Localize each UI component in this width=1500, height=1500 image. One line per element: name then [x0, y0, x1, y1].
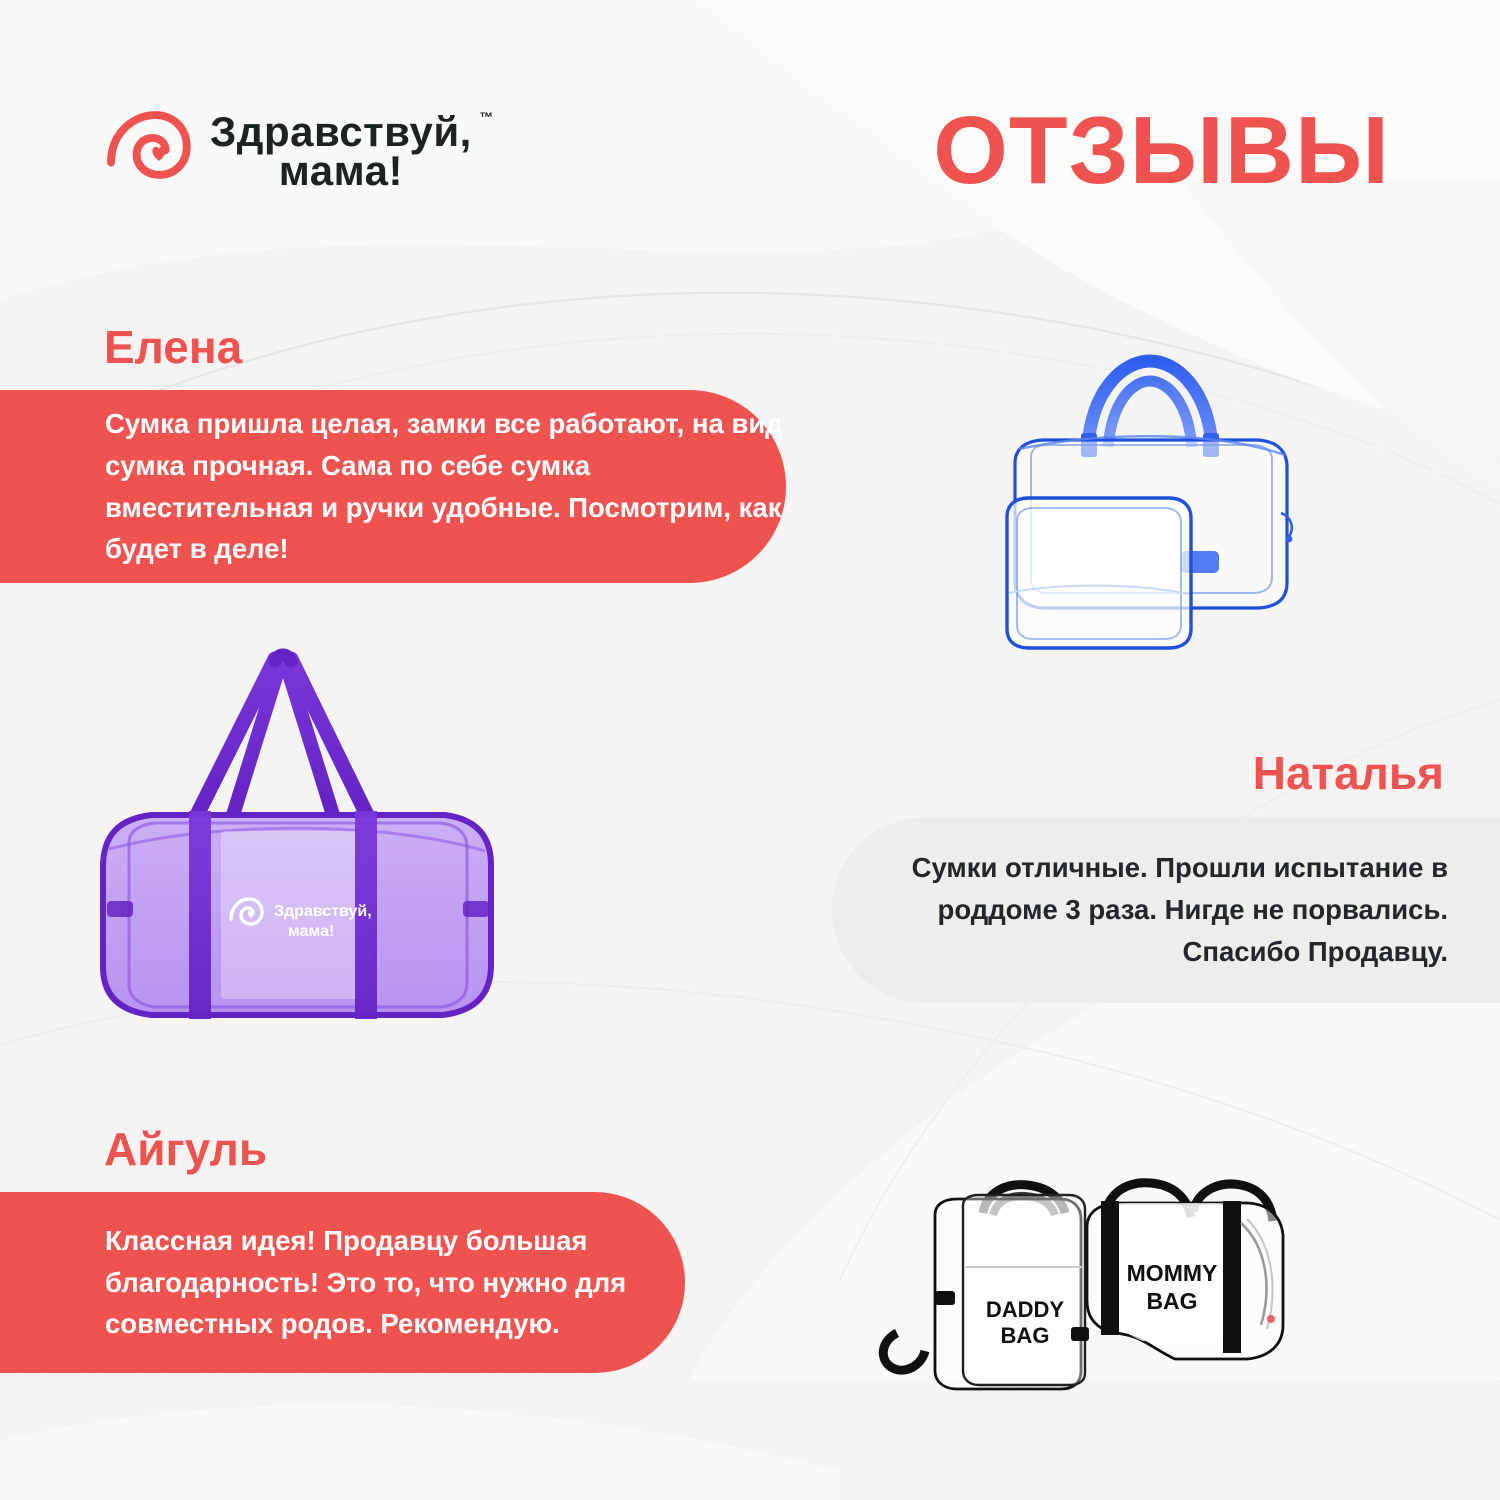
page-title: ОТЗЫВЫ — [933, 103, 1390, 199]
product-photo-purple-bag: Здравствуй, мама! — [85, 635, 510, 1045]
testimonial-bubble-elena: Сумка пришла целая, замки все работают, … — [0, 390, 786, 583]
daddy-bag-label-line-1: DADDY — [986, 1297, 1065, 1322]
mommy-bag-label-line-2: BAG — [1146, 1288, 1197, 1314]
mommy-bag-label-line-1: MOMMY — [1127, 1260, 1218, 1286]
testimonial-name-aigul: Айгуль — [104, 1126, 267, 1172]
product-photo-black-bag-set: DADDY BAG MOMMY — [875, 1175, 1295, 1430]
testimonial-name-elena: Елена — [104, 324, 242, 370]
svg-text:мама!: мама! — [288, 923, 334, 940]
daddy-bag-label-line-2: BAG — [1001, 1323, 1050, 1348]
testimonial-text-elena: Сумка пришла целая, замки все работают, … — [105, 403, 786, 570]
svg-text:Здравствуй,: Здравствуй, — [274, 903, 372, 920]
testimonial-name-natalya: Наталья — [1253, 750, 1444, 796]
spiral-heart-icon — [104, 108, 192, 196]
daddy-bag: DADDY BAG — [883, 1185, 1089, 1389]
testimonial-text-aigul: Классная идея! Продавцу большая благодар… — [105, 1220, 685, 1345]
testimonial-bubble-aigul: Классная идея! Продавцу большая благодар… — [0, 1192, 685, 1373]
black-bag-illustration: DADDY BAG MOMMY — [875, 1175, 1295, 1430]
brand-name-line-2: мама! — [210, 152, 472, 191]
testimonial-bubble-natalya: Сумки отличные. Прошли испытание в роддо… — [832, 817, 1500, 1003]
trademark-symbol: ™ — [479, 111, 494, 124]
brand-logo: Здравствуй, мама! ™ — [104, 108, 472, 196]
blue-bag-illustration — [985, 345, 1355, 665]
product-photo-blue-bag-set — [985, 345, 1355, 665]
mommy-bag: MOMMY BAG — [1087, 1183, 1283, 1359]
promo-banner: Здравствуй, мама! ™ ОТЗЫВЫ Елена Сумка п… — [0, 0, 1500, 1500]
testimonial-text-natalya: Сумки отличные. Прошли испытание в роддо… — [832, 847, 1448, 972]
brand-wordmark: Здравствуй, мама! ™ — [210, 113, 472, 190]
purple-bag-illustration: Здравствуй, мама! — [85, 635, 510, 1045]
